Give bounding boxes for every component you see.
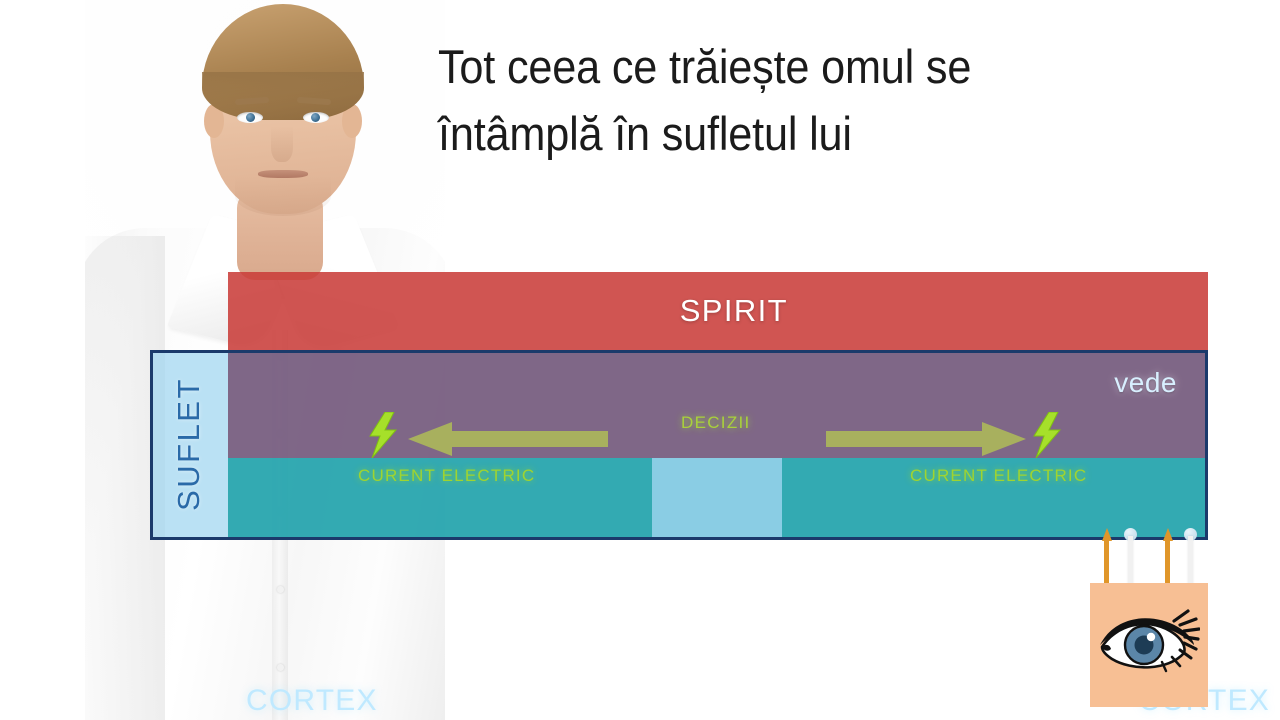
sees-label: vede bbox=[1114, 367, 1177, 399]
current-arrow-right bbox=[826, 422, 1026, 456]
eye-icon bbox=[1098, 605, 1200, 677]
slide-canvas: Tot ceea ce trăiește omul se întâmplă în… bbox=[0, 0, 1280, 720]
spirit-band: SPIRIT bbox=[228, 272, 1208, 350]
eye-module bbox=[1090, 583, 1208, 707]
current-arrow-left bbox=[408, 422, 608, 456]
soul-label-text: SUFLET bbox=[171, 377, 207, 511]
soul-label: SUFLET bbox=[150, 350, 228, 537]
cortex-label-left: CORTEX bbox=[246, 684, 378, 718]
soul-spirit-diagram: SPIRIT vede DECIZII CORTEX CORTEX SUFLET bbox=[0, 0, 1280, 720]
cortex-gap bbox=[652, 458, 782, 537]
lightning-bolt-right bbox=[1032, 412, 1062, 458]
decisions-label: DECIZII bbox=[681, 413, 751, 433]
current-label-right: CURENT ELECTRIC bbox=[910, 466, 1087, 486]
current-label-left: CURENT ELECTRIC bbox=[358, 466, 535, 486]
spirit-label: SPIRIT bbox=[680, 293, 788, 329]
lightning-bolt-left bbox=[368, 412, 398, 458]
